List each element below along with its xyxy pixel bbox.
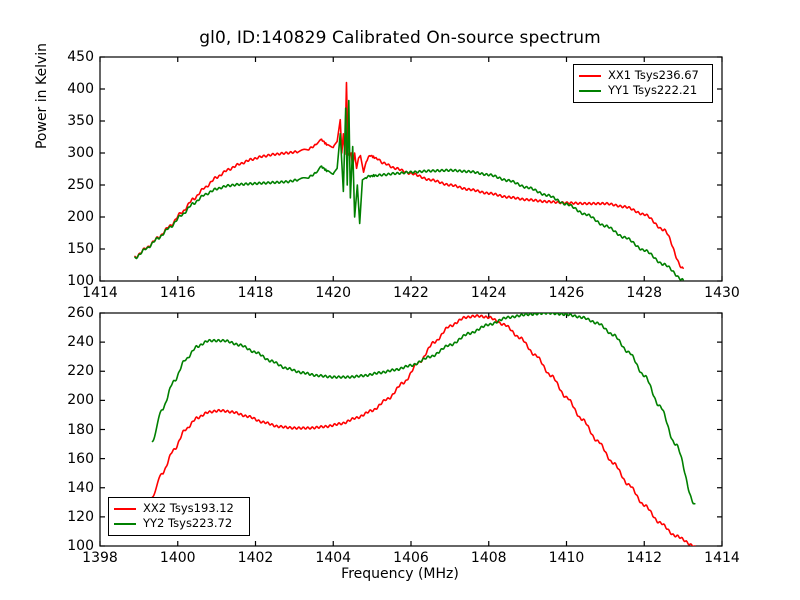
y-tick-bottom-240: 240 [67, 334, 94, 350]
series-line-yy1 [135, 101, 683, 280]
y-tick-bottom-220: 220 [67, 363, 94, 379]
figure-canvas: gl0, ID:140829 Calibrated On-source spec… [0, 0, 800, 600]
legend-bottom-entry: YY2 Tsys223.72 [114, 516, 244, 531]
y-tick-top-150: 150 [67, 241, 94, 257]
x-tick-bottom-1404: 1404 [315, 550, 351, 566]
x-tick-bottom-1408: 1408 [471, 550, 507, 566]
legend-label: YY2 Tsys223.72 [143, 516, 232, 531]
x-tick-bottom-1406: 1406 [393, 550, 429, 566]
y-tick-bottom-160: 160 [67, 451, 94, 467]
y-tick-bottom-260: 260 [67, 305, 94, 321]
y-tick-bottom-200: 200 [67, 392, 94, 408]
x-tick-bottom-1412: 1412 [626, 550, 662, 566]
legend-color-swatch [579, 75, 601, 77]
x-tick-top-1426: 1426 [549, 285, 585, 301]
x-tick-bottom-1410: 1410 [549, 550, 585, 566]
legend-color-swatch [579, 90, 601, 92]
x-tick-top-1430: 1430 [704, 285, 740, 301]
y-tick-bottom-120: 120 [67, 509, 94, 525]
x-tick-bottom-1414: 1414 [704, 550, 740, 566]
x-tick-top-1422: 1422 [393, 285, 429, 301]
x-tick-top-1416: 1416 [160, 285, 196, 301]
legend-top-entry: YY1 Tsys222.21 [579, 83, 707, 98]
y-tick-bottom-140: 140 [67, 480, 94, 496]
series-line-xx1 [135, 83, 683, 269]
x-tick-top-1428: 1428 [626, 285, 662, 301]
x-tick-top-1424: 1424 [471, 285, 507, 301]
legend-color-swatch [114, 523, 136, 525]
legend-color-swatch [114, 508, 136, 510]
y-tick-top-200: 200 [67, 209, 94, 225]
y-tick-top-100: 100 [67, 273, 94, 289]
legend-label: XX2 Tsys193.12 [143, 501, 234, 516]
legend-bottom-panel[interactable]: XX2 Tsys193.12YY2 Tsys223.72 [108, 497, 250, 536]
x-tick-top-1420: 1420 [315, 285, 351, 301]
y-tick-bottom-180: 180 [67, 422, 94, 438]
y-tick-top-350: 350 [67, 113, 94, 129]
y-tick-top-450: 450 [67, 49, 94, 65]
legend-top-entry: XX1 Tsys236.67 [579, 68, 707, 83]
legend-label: YY1 Tsys222.21 [608, 83, 697, 98]
series-line-yy2 [152, 312, 694, 504]
y-tick-top-300: 300 [67, 145, 94, 161]
x-tick-bottom-1402: 1402 [238, 550, 274, 566]
legend-bottom-entry: XX2 Tsys193.12 [114, 501, 244, 516]
y-tick-top-400: 400 [67, 81, 94, 97]
legend-label: XX1 Tsys236.67 [608, 68, 699, 83]
x-tick-top-1418: 1418 [238, 285, 274, 301]
legend-top-panel[interactable]: XX1 Tsys236.67YY1 Tsys222.21 [573, 64, 713, 103]
y-tick-top-250: 250 [67, 177, 94, 193]
y-tick-bottom-100: 100 [67, 538, 94, 554]
x-tick-bottom-1400: 1400 [160, 550, 196, 566]
